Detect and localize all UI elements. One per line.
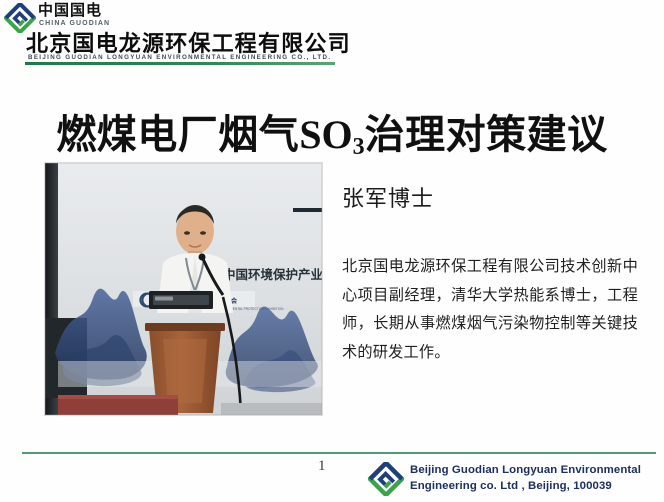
title-part-2: 治理对策建议 xyxy=(365,113,608,157)
company-name-en: BEIJING GUODIAN LONGYUAN ENVIRONMENTAL E… xyxy=(28,54,331,61)
title-part-1: 燃煤电厂烟气 xyxy=(56,113,299,157)
footer-line-1: Beijing Guodian Longyuan Environmental xyxy=(410,463,641,479)
footer-line-2: Engineering co. Ltd , Beijing, 100039 xyxy=(410,479,641,495)
page-title: 燃煤电厂烟气SO3治理对策建议 xyxy=(0,111,664,165)
brand-name-cn: 中国国电 xyxy=(38,2,102,19)
brand-name-en: CHINA GUODIAN xyxy=(39,20,110,27)
formula-main: SO xyxy=(299,112,352,157)
guodian-diamond-logo-icon xyxy=(4,3,36,33)
speaker-bio: 北京国电龙源环保工程有限公司技术创新中心项目副经理，清华大学热能系博士，工程师，… xyxy=(342,253,638,367)
formula-subscript: 3 xyxy=(353,134,365,160)
speaker-photo: 中国环境保护产业协会 第十五届中国国际环保展览会 THE 15TH CHINA … xyxy=(45,163,322,415)
page-number: 1 xyxy=(318,458,326,475)
slide-canvas: 中国国电 CHINA GUODIAN 北京国电龙源环保工程有限公司 BEIJIN… xyxy=(0,0,664,502)
header-divider xyxy=(25,62,335,65)
footer-guodian-diamond-logo-icon xyxy=(368,462,404,496)
speaker-name: 张军博士 xyxy=(342,181,434,213)
company-name-cn: 北京国电龙源环保工程有限公司 xyxy=(26,31,351,56)
slide-header: 中国国电 CHINA GUODIAN 北京国电龙源环保工程有限公司 BEIJIN… xyxy=(0,0,664,70)
photo-backdrop-text: 中国环境保护产业协会 xyxy=(223,267,322,282)
footer-company-text: Beijing Guodian Longyuan Environmental E… xyxy=(410,463,641,494)
formula-so3: SO3 xyxy=(299,112,364,157)
footer-divider xyxy=(22,452,656,454)
